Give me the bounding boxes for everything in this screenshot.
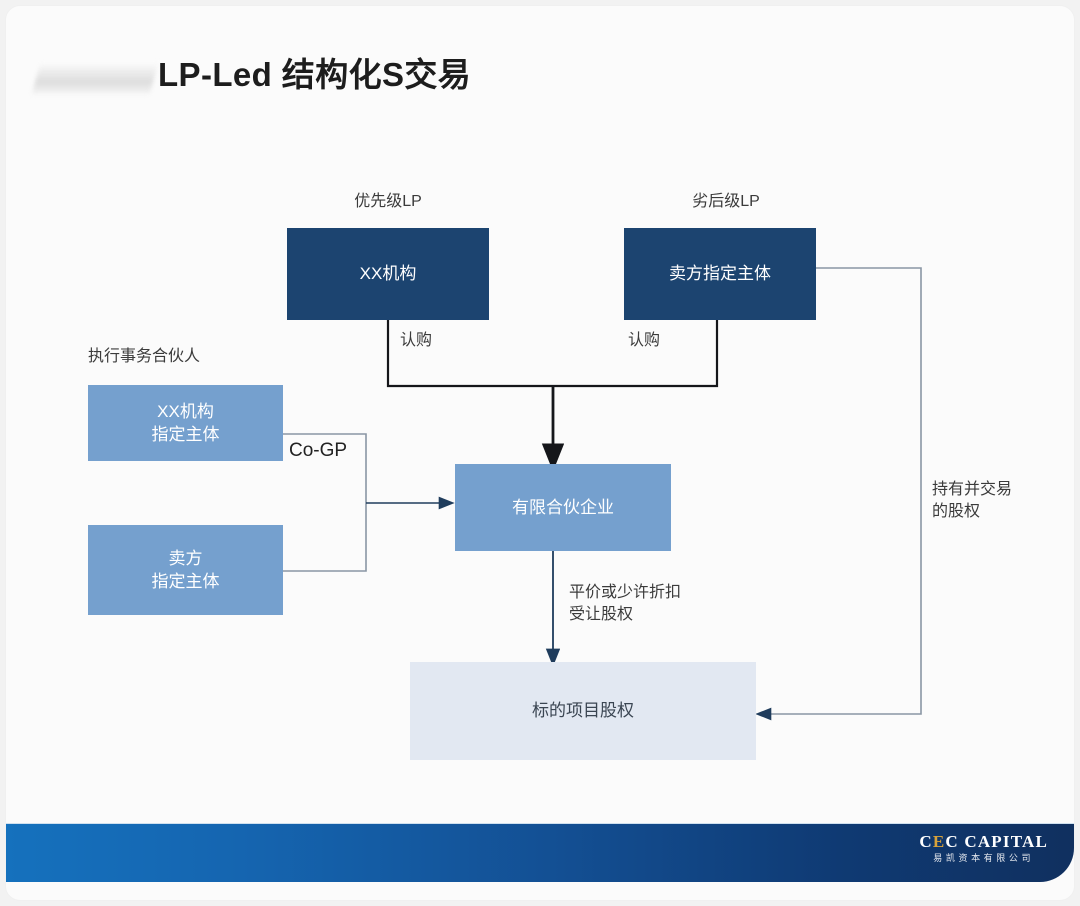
node-gp-entity-b-label: 卖方 指定主体 [152,547,220,594]
junior-lp-caption: 劣后级LP [671,191,781,213]
slide-canvas: LP-Led 结构化S交易 [6,6,1074,900]
node-target-equity-label: 标的项目股权 [532,699,634,722]
senior-lp-caption: 优先级LP [333,191,443,213]
managing-partner-caption: 执行事务合伙人 [88,346,200,368]
node-gp-entity-a[interactable]: XX机构 指定主体 [88,385,283,461]
node-fund-label: 有限合伙企业 [512,496,614,519]
node-junior-lp[interactable]: 卖方指定主体 [624,228,816,320]
transfer-terms-label: 平价或少许折扣 受让股权 [569,582,681,625]
node-senior-lp[interactable]: XX机构 [287,228,489,320]
cec-capital-logo: CEC CAPITAL 易凯资本有限公司 [919,833,1048,863]
slide-footer: CEC CAPITAL 易凯资本有限公司 [6,823,1074,882]
node-target-equity[interactable]: 标的项目股权 [410,662,756,760]
co-gp-bracket-label: Co-GP [289,438,347,464]
node-gp-entity-b[interactable]: 卖方 指定主体 [88,525,283,615]
brand-wordmark: CEC CAPITAL [919,833,1048,850]
subscribe-right-label: 认购 [628,330,660,352]
wire-subscription [388,319,717,386]
brand-chinese-name: 易凯资本有限公司 [919,854,1048,863]
node-fund[interactable]: 有限合伙企业 [455,464,671,551]
node-junior-lp-label: 卖方指定主体 [669,262,771,285]
diagram-canvas: 优先级LP 劣后级LP 执行事务合伙人 Co-GP 认购 认购 平价或少许折扣 … [6,6,1074,900]
node-senior-lp-label: XX机构 [360,262,417,285]
held-equity-label: 持有并交易 的股权 [932,479,1012,522]
brand-suffix: C CAPITAL [945,832,1048,851]
brand-accent-letter: E [933,832,946,851]
subscribe-left-label: 认购 [400,330,432,352]
brand-prefix: C [919,832,932,851]
wire-held-equity [763,268,921,714]
node-gp-entity-a-label: XX机构 指定主体 [152,400,220,447]
